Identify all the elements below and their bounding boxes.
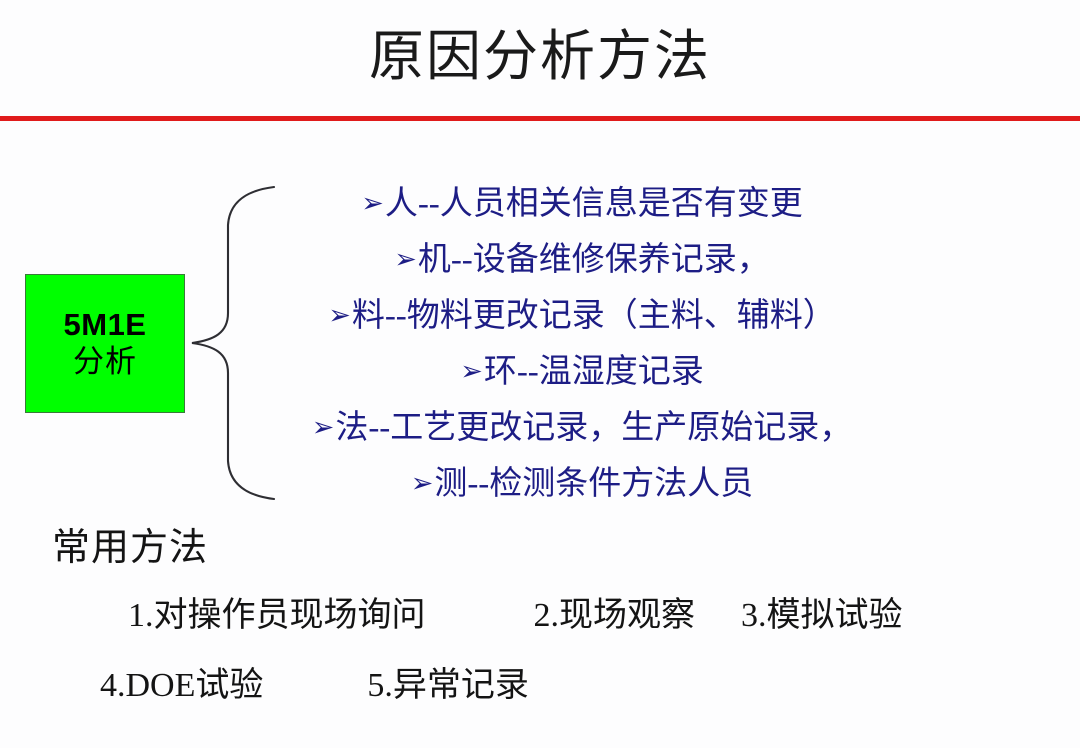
methods-row-second: 4.DOE试验5.异常记录	[100, 664, 1000, 708]
core-concept-box: 5M1E 分析	[25, 274, 185, 413]
core-concept-label-secondary: 分析	[73, 343, 137, 381]
method-item-5: 5.异常记录	[367, 664, 529, 708]
factor-item-2: ➢机--设备维修保养记录，	[262, 232, 902, 288]
bullet-arrow-icon: ➢	[312, 412, 336, 443]
method-item-3: 3.模拟试验	[741, 594, 903, 638]
factor-item-1-label: 人--人员相关信息是否有变更	[385, 186, 803, 222]
factor-item-2-label: 机--设备维修保养记录，	[418, 242, 770, 278]
factor-item-6: ➢测--检测条件方法人员	[262, 456, 902, 512]
factor-item-3-label: 料--物料更改记录（主料、辅料）	[352, 298, 836, 334]
factor-item-3: ➢料--物料更改记录（主料、辅料）	[262, 288, 902, 344]
factor-item-5: ➢法--工艺更改记录，生产原始记录，	[262, 400, 902, 456]
page-title: 原因分析方法	[0, 24, 1080, 90]
bullet-arrow-icon: ➢	[411, 468, 435, 499]
title-divider-rule	[0, 116, 1080, 121]
methods-row-first: 1.对操作员现场询问2.现场观察3.模拟试验	[128, 594, 1028, 638]
method-item-1: 1.对操作员现场询问	[128, 594, 426, 638]
method-item-4: 4.DOE试验	[100, 664, 263, 708]
core-concept-label-primary: 5M1E	[64, 307, 147, 343]
factor-item-1: ➢人--人员相关信息是否有变更	[262, 176, 902, 232]
factor-item-4: ➢环--温湿度记录	[262, 344, 902, 400]
slide-canvas: 原因分析方法 5M1E 分析 ➢人--人员相关信息是否有变更 ➢机--设备维修保…	[0, 0, 1080, 748]
method-item-2: 2.现场观察	[534, 594, 696, 638]
methods-section-heading: 常用方法	[52, 525, 208, 571]
factor-item-4-label: 环--温湿度记录	[484, 354, 704, 390]
bullet-arrow-icon: ➢	[460, 356, 484, 387]
factor-item-5-label: 法--工艺更改记录，生产原始记录，	[335, 410, 852, 446]
bullet-arrow-icon: ➢	[328, 300, 352, 331]
factor-item-6-label: 测--检测条件方法人员	[434, 466, 753, 502]
factor-list: ➢人--人员相关信息是否有变更 ➢机--设备维修保养记录， ➢料--物料更改记录…	[262, 176, 902, 512]
bullet-arrow-icon: ➢	[394, 244, 418, 275]
bullet-arrow-icon: ➢	[361, 188, 385, 219]
